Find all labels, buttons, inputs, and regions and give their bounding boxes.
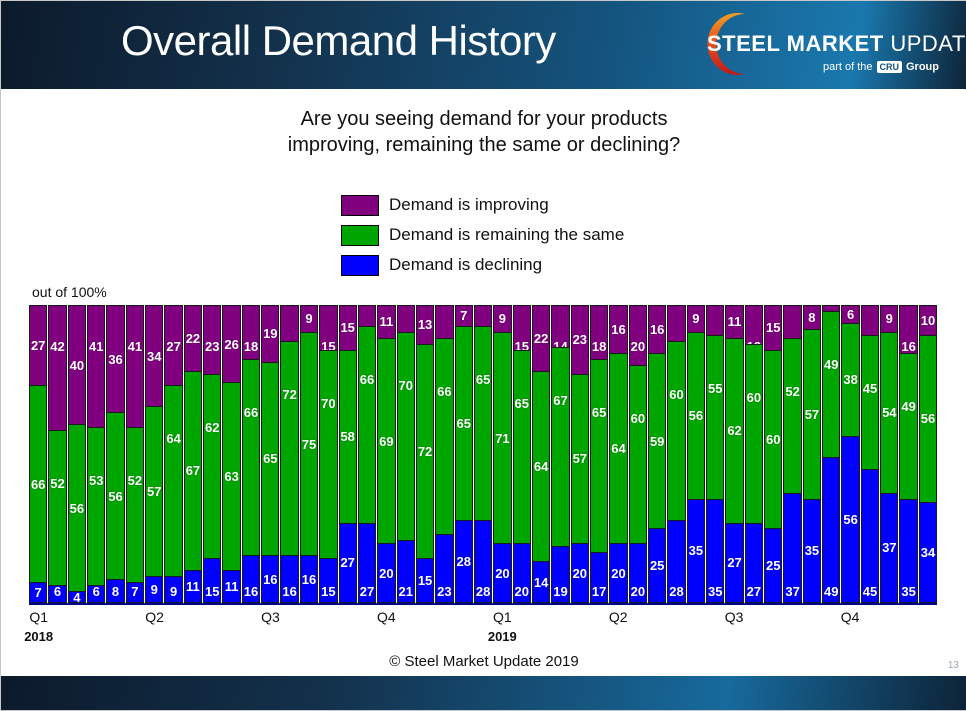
- bar-column[interactable]: 186517: [590, 305, 608, 603]
- bar-segment-same[interactable]: 69: [377, 338, 395, 544]
- bar-segment-improving[interactable]: 27: [164, 305, 182, 385]
- bar-value-same: 57: [805, 408, 819, 421]
- bar-value-improving: 41: [89, 340, 103, 353]
- bar-segment-declining[interactable]: 11: [222, 570, 240, 603]
- bar-value-same: 53: [89, 474, 103, 487]
- bar-segment-improving[interactable]: 22: [184, 305, 202, 371]
- bar-value-improving: 13: [418, 318, 432, 331]
- bar-segment-improving[interactable]: 7: [455, 305, 473, 326]
- bar-value-declining: 9: [151, 583, 158, 596]
- bar-segment-same[interactable]: 65: [590, 359, 608, 553]
- x-axis-quarter-label: Q3: [725, 609, 744, 625]
- bar-value-declining: 56: [843, 513, 857, 526]
- bar-value-improving: 41: [128, 340, 142, 353]
- bar-segment-declining[interactable]: 21: [397, 540, 415, 603]
- page-number: 13: [948, 660, 959, 671]
- bar-segment-declining[interactable]: 37: [880, 493, 898, 603]
- bar-value-declining: 15: [205, 585, 219, 598]
- bar-value-improving: 16: [901, 340, 915, 353]
- bar-value-improving: 16: [650, 323, 664, 336]
- bar-column[interactable]: 165925: [648, 305, 666, 603]
- bar-column[interactable]: 235720: [571, 305, 589, 603]
- bar-segment-improving[interactable]: 10: [861, 305, 879, 335]
- bar-column[interactable]: 146719: [551, 305, 569, 603]
- bar-segment-declining[interactable]: 9: [164, 576, 182, 603]
- bar-segment-same[interactable]: 72: [416, 344, 434, 559]
- bar-column[interactable]: 226711: [184, 305, 202, 603]
- bar-segment-declining[interactable]: 23: [435, 534, 453, 603]
- bar-value-declining: 20: [573, 567, 587, 580]
- bar-value-improving: 36: [108, 353, 122, 366]
- bar-segment-improving[interactable]: 16: [648, 305, 666, 353]
- bar-value-declining: 7: [35, 586, 42, 599]
- bar-value-same: 52: [785, 385, 799, 398]
- bar-segment-declining[interactable]: 6: [87, 585, 105, 603]
- bar-column[interactable]: 41536: [87, 305, 105, 603]
- bar-segment-improving[interactable]: 12: [280, 305, 298, 341]
- bar-column[interactable]: 196516: [261, 305, 279, 603]
- bar-value-same: 58: [340, 430, 354, 443]
- bar-segment-same[interactable]: 60: [745, 344, 763, 523]
- bar-segment-declining[interactable]: 25: [648, 528, 666, 603]
- bar-value-same: 62: [727, 424, 741, 437]
- bar-value-declining: 4: [73, 591, 80, 604]
- bar-segment-same[interactable]: 52: [48, 430, 66, 585]
- bar-segment-same[interactable]: 62: [203, 374, 221, 559]
- bar-segment-same[interactable]: 45: [861, 335, 879, 469]
- page-title: Overall Demand History: [121, 17, 556, 65]
- bar-segment-declining[interactable]: 49: [822, 457, 840, 603]
- bar-column[interactable]: 116623: [435, 305, 453, 603]
- bar-segment-improving[interactable]: 23: [571, 305, 589, 374]
- bar-segment-same[interactable]: 49: [822, 311, 840, 457]
- bar-segment-same[interactable]: 57: [145, 406, 163, 576]
- bar-value-improving: 40: [70, 359, 84, 372]
- bar-segment-declining[interactable]: 16: [261, 555, 279, 603]
- bar-segment-same[interactable]: 59: [648, 353, 666, 529]
- bar-segment-improving[interactable]: 40: [68, 305, 86, 424]
- bar-segment-same[interactable]: 52: [783, 338, 801, 493]
- steel-market-update-logo: STEEL MARKET UPDATE part of the CRU Grou…: [671, 9, 941, 83]
- bar-value-improving: 11: [379, 315, 393, 328]
- bar-segment-improving[interactable]: 13: [745, 305, 763, 344]
- bar-value-same: 67: [186, 464, 200, 477]
- bar-segment-improving[interactable]: 9: [300, 305, 318, 332]
- bar-segment-declining[interactable]: 35: [687, 499, 705, 603]
- bar-value-declining: 16: [302, 573, 316, 586]
- bar-segment-declining[interactable]: 35: [803, 499, 821, 603]
- bar-segment-improving[interactable]: 6: [841, 305, 859, 323]
- bar-segment-same[interactable]: 38: [841, 323, 859, 436]
- bar-segment-declining[interactable]: 6: [48, 585, 66, 603]
- bar-value-declining: 25: [766, 559, 780, 572]
- bar-segment-same[interactable]: 56: [106, 412, 124, 579]
- bar-value-same: 60: [766, 433, 780, 446]
- bar-column[interactable]: 24949: [822, 305, 840, 603]
- bar-segment-declining[interactable]: 20: [571, 543, 589, 603]
- bar-segment-improving[interactable]: 26: [222, 305, 240, 382]
- bar-segment-same[interactable]: 53: [87, 427, 105, 585]
- logo-word-market: MARKET: [787, 31, 891, 56]
- bar-value-declining: 35: [805, 544, 819, 557]
- bar-column[interactable]: 104545: [861, 305, 879, 603]
- bar-segment-improving[interactable]: 15: [513, 305, 531, 350]
- bar-value-declining: 35: [708, 585, 722, 598]
- bar-segment-improving[interactable]: 9: [493, 305, 511, 332]
- y-axis-note: out of 100%: [32, 284, 107, 300]
- bar-segment-same[interactable]: 58: [339, 350, 357, 523]
- bar-value-declining: 49: [824, 585, 838, 598]
- bar-value-improving: 9: [499, 312, 506, 325]
- bar-value-declining: 25: [650, 559, 664, 572]
- x-axis-quarter-label: Q1: [493, 609, 512, 625]
- bar-value-declining: 45: [863, 585, 877, 598]
- bar-segment-declining[interactable]: 20: [629, 543, 647, 603]
- bar-segment-improving[interactable]: 20: [629, 305, 647, 365]
- bar-segment-same[interactable]: 66: [435, 338, 453, 535]
- bar-segment-declining[interactable]: 20: [609, 543, 627, 603]
- bar-value-improving: 10: [921, 314, 935, 327]
- bar-segment-improving[interactable]: 16: [609, 305, 627, 353]
- bar-segment-improving[interactable]: 15: [764, 305, 782, 350]
- slide: Overall Demand History STEEL MARKET UPDA…: [0, 0, 966, 711]
- bar-segment-improving[interactable]: 36: [106, 305, 124, 412]
- bar-value-same: 60: [631, 412, 645, 425]
- bar-segment-improving[interactable]: 19: [261, 305, 279, 362]
- bar-segment-same[interactable]: 67: [551, 347, 569, 547]
- bar-segment-same[interactable]: 65: [455, 326, 473, 520]
- demand-history-chart: out of 100% 2766742526405644153636568415…: [1, 90, 966, 678]
- bar-column[interactable]: 27667: [29, 305, 47, 603]
- bar-segment-same[interactable]: 64: [609, 353, 627, 544]
- bar-value-improving: 23: [573, 333, 587, 346]
- bar-segment-same[interactable]: 54: [880, 332, 898, 493]
- bar-segment-same[interactable]: 52: [126, 427, 144, 582]
- bar-value-improving: 42: [50, 340, 64, 353]
- bar-value-same: 64: [166, 432, 180, 445]
- bar-segment-improving[interactable]: 15: [339, 305, 357, 350]
- bar-segment-same[interactable]: 60: [764, 350, 782, 529]
- bar-value-same: 66: [360, 373, 374, 386]
- bar-value-same: 71: [495, 432, 509, 445]
- bar-value-declining: 16: [282, 585, 296, 598]
- bar-value-declining: 7: [131, 585, 138, 598]
- bar-column[interactable]: 136027: [745, 305, 763, 603]
- bar-value-declining: 23: [437, 585, 451, 598]
- bar-value-declining: 27: [360, 585, 374, 598]
- bar-value-improving: 11: [728, 315, 742, 328]
- logo-wordmark: STEEL MARKET UPDATE: [707, 33, 966, 55]
- bar-segment-same[interactable]: 57: [571, 374, 589, 544]
- bar-column[interactable]: 40564: [68, 305, 86, 603]
- bar-segment-same[interactable]: 64: [164, 385, 182, 576]
- bar-column[interactable]: 164935: [899, 305, 917, 603]
- bar-column[interactable]: 27649: [164, 305, 182, 603]
- logo-tagline-suffix: Group: [906, 61, 939, 73]
- bar-value-same: 65: [592, 406, 606, 419]
- bar-column[interactable]: 206020: [629, 305, 647, 603]
- bar-segment-improving[interactable]: 11: [435, 305, 453, 338]
- bar-column[interactable]: 156025: [764, 305, 782, 603]
- bar-value-declining: 6: [93, 585, 100, 598]
- bar-column[interactable]: 226414: [532, 305, 550, 603]
- x-axis-quarter-label: Q2: [609, 609, 628, 625]
- bar-segment-declining[interactable]: 20: [513, 543, 531, 603]
- bar-value-declining: 28: [669, 585, 683, 598]
- bar-segment-improving[interactable]: 14: [551, 305, 569, 347]
- bar-segment-same[interactable]: 65: [474, 326, 492, 520]
- bar-segment-declining[interactable]: 25: [764, 528, 782, 603]
- bar-value-improving: 15: [340, 321, 354, 334]
- bar-value-same: 57: [147, 485, 161, 498]
- bar-segment-declining[interactable]: 15: [203, 558, 221, 603]
- bar-value-declining: 27: [727, 556, 741, 569]
- bar-segment-declining[interactable]: 15: [416, 558, 434, 603]
- bar-value-same: 52: [128, 474, 142, 487]
- bar-value-same: 69: [379, 435, 393, 448]
- bar-segment-declining[interactable]: 28: [667, 520, 685, 603]
- bar-segment-declining[interactable]: 27: [725, 523, 743, 603]
- bar-segment-declining[interactable]: 16: [280, 555, 298, 603]
- bar-segment-declining[interactable]: 27: [745, 523, 763, 603]
- bar-value-improving: 27: [166, 340, 180, 353]
- bar-segment-same[interactable]: 65: [261, 362, 279, 556]
- logo-word-steel: STEEL: [707, 31, 787, 56]
- bar-value-same: 65: [476, 373, 490, 386]
- bar-column[interactable]: 76627: [358, 305, 376, 603]
- bar-value-improving: 6: [847, 308, 854, 321]
- x-axis-quarter-label: Q4: [841, 609, 860, 625]
- x-axis-year-label: 2019: [488, 629, 517, 644]
- logo-word-update: UPDATE: [890, 31, 966, 56]
- bar-segment-improving[interactable]: 23: [203, 305, 221, 374]
- bar-segment-declining[interactable]: 16: [242, 555, 260, 603]
- bar-segment-declining[interactable]: 8: [106, 579, 124, 603]
- bar-column[interactable]: 137215: [416, 305, 434, 603]
- bar-segment-improving[interactable]: 41: [87, 305, 105, 427]
- bar-segment-same[interactable]: 55: [706, 335, 724, 499]
- bar-segment-same[interactable]: 67: [184, 371, 202, 571]
- bar-segment-same[interactable]: 75: [300, 332, 318, 556]
- bar-segment-declining[interactable]: 37: [783, 493, 801, 603]
- bar-value-declining: 20: [631, 585, 645, 598]
- bar-value-same: 57: [573, 452, 587, 465]
- bar-value-improving: 16: [611, 323, 625, 336]
- bar-segment-same[interactable]: 66: [358, 326, 376, 523]
- bar-column[interactable]: 97021: [397, 305, 415, 603]
- bar-segment-improving[interactable]: 15: [319, 305, 337, 350]
- bar-segment-declining[interactable]: 35: [899, 499, 917, 603]
- bar-value-same: 66: [244, 406, 258, 419]
- bar-segment-declining[interactable]: 27: [358, 523, 376, 603]
- logo-tagline: part of the CRU Group: [823, 61, 939, 73]
- bar-segment-improving[interactable]: 10: [706, 305, 724, 335]
- bar-segment-improving[interactable]: 42: [48, 305, 66, 430]
- bar-column[interactable]: 115237: [783, 305, 801, 603]
- bar-value-improving: 23: [205, 340, 219, 353]
- bar-value-same: 60: [747, 391, 761, 404]
- bar-segment-declining[interactable]: 27: [339, 523, 357, 603]
- bar-segment-same[interactable]: 66: [242, 359, 260, 556]
- bar-segment-same[interactable]: 49: [899, 353, 917, 499]
- cru-badge: CRU: [877, 61, 903, 73]
- bar-segment-declining[interactable]: 16: [300, 555, 318, 603]
- bar-value-same: 56: [921, 412, 935, 425]
- bar-segment-same[interactable]: 60: [667, 341, 685, 520]
- bar-segment-declining[interactable]: 56: [841, 436, 859, 603]
- bar-column[interactable]: 126028: [667, 305, 685, 603]
- bar-segment-declining[interactable]: 34: [919, 502, 937, 603]
- slide-footer: 13: [1, 676, 966, 710]
- bar-value-declining: 17: [592, 585, 606, 598]
- bar-segment-same[interactable]: 62: [725, 338, 743, 523]
- bar-segment-declining[interactable]: 9: [145, 576, 163, 603]
- bar-segment-improving[interactable]: 22: [532, 305, 550, 371]
- bar-segment-improving[interactable]: 34: [145, 305, 163, 406]
- slide-header: Overall Demand History STEEL MARKET UPDA…: [1, 1, 966, 89]
- bar-segment-improving[interactable]: 8: [803, 305, 821, 329]
- bar-value-declining: 28: [476, 585, 490, 598]
- bar-segment-improving[interactable]: 18: [242, 305, 260, 359]
- bar-segment-improving[interactable]: 16: [899, 305, 917, 353]
- bar-segment-declining[interactable]: 28: [455, 520, 473, 603]
- bar-value-declining: 21: [398, 585, 412, 598]
- bar-column[interactable]: 236215: [203, 305, 221, 603]
- bar-column[interactable]: 116227: [725, 305, 743, 603]
- bar-column[interactable]: 186616: [242, 305, 260, 603]
- bar-segment-same[interactable]: 70: [397, 332, 415, 541]
- bar-column[interactable]: 116920: [377, 305, 395, 603]
- bar-value-same: 66: [31, 478, 45, 491]
- bar-column[interactable]: 105634: [919, 305, 937, 603]
- bar-segment-declining[interactable]: 17: [590, 552, 608, 603]
- bar-segment-declining[interactable]: 15: [319, 558, 337, 603]
- bar-value-same: 72: [282, 388, 296, 401]
- bar-column[interactable]: 42526: [48, 305, 66, 603]
- bar-segment-declining[interactable]: 11: [184, 570, 202, 603]
- bar-segment-declining[interactable]: 14: [532, 561, 550, 603]
- bar-value-same: 72: [418, 445, 432, 458]
- bar-column[interactable]: 155827: [339, 305, 357, 603]
- bar-value-improving: 9: [305, 312, 312, 325]
- bar-segment-improving[interactable]: 41: [126, 305, 144, 427]
- bar-column[interactable]: 85735: [803, 305, 821, 603]
- bar-column[interactable]: 76528: [455, 305, 473, 603]
- slide-body: Are you seeing demand for your products …: [1, 90, 966, 678]
- bar-value-declining: 11: [225, 580, 239, 593]
- bar-segment-same[interactable]: 56: [919, 335, 937, 502]
- bar-value-same: 45: [863, 382, 877, 395]
- bar-segment-same[interactable]: 56: [687, 332, 705, 499]
- bar-column[interactable]: 76528: [474, 305, 492, 603]
- bar-segment-declining[interactable]: 28: [474, 520, 492, 603]
- bar-segment-improving[interactable]: 18: [590, 305, 608, 359]
- bar-value-declining: 20: [515, 585, 529, 598]
- bar-segment-improving[interactable]: 11: [783, 305, 801, 338]
- bar-segment-improving[interactable]: 11: [377, 305, 395, 338]
- bar-value-declining: 37: [785, 585, 799, 598]
- bar-segment-declining[interactable]: 19: [551, 546, 569, 603]
- bar-column[interactable]: 95635: [687, 305, 705, 603]
- bar-value-same: 59: [650, 435, 664, 448]
- bar-column[interactable]: 166420: [609, 305, 627, 603]
- bar-segment-improving[interactable]: 9: [687, 305, 705, 332]
- bar-segment-declining[interactable]: 7: [29, 582, 47, 603]
- bar-segment-same[interactable]: 63: [222, 382, 240, 570]
- bar-value-same: 64: [534, 460, 548, 473]
- bar-column[interactable]: 97120: [493, 305, 511, 603]
- bar-value-declining: 35: [901, 585, 915, 598]
- bar-column[interactable]: 127216: [280, 305, 298, 603]
- bar-segment-same[interactable]: 64: [532, 371, 550, 562]
- bar-column[interactable]: 266311: [222, 305, 240, 603]
- bar-segment-improving[interactable]: 9: [880, 305, 898, 332]
- bar-value-same: 56: [108, 490, 122, 503]
- bar-column[interactable]: 105535: [706, 305, 724, 603]
- bar-value-declining: 20: [379, 567, 393, 580]
- bar-segment-declining[interactable]: 7: [126, 582, 144, 603]
- bar-segment-improving[interactable]: 13: [416, 305, 434, 344]
- bar-value-declining: 19: [553, 585, 567, 598]
- bar-segment-same[interactable]: 70: [319, 350, 337, 559]
- bar-segment-declining[interactable]: 20: [493, 543, 511, 603]
- bar-column[interactable]: 36568: [106, 305, 124, 603]
- bar-column[interactable]: 157015: [319, 305, 337, 603]
- bar-segment-improving[interactable]: 9: [397, 305, 415, 332]
- bar-segment-declining[interactable]: 45: [861, 469, 879, 603]
- bar-value-improving: 22: [186, 332, 200, 345]
- bar-segment-improving[interactable]: 10: [919, 305, 937, 335]
- bar-column[interactable]: 156520: [513, 305, 531, 603]
- bar-segment-improving[interactable]: 7: [474, 305, 492, 326]
- bar-segment-improving[interactable]: 11: [725, 305, 743, 338]
- copyright-text: © Steel Market Update 2019: [1, 653, 966, 670]
- bar-segment-same[interactable]: 65: [513, 350, 531, 544]
- bar-value-declining: 9: [170, 585, 177, 598]
- bar-value-improving: 9: [692, 312, 699, 325]
- bar-column[interactable]: 41527: [126, 305, 144, 603]
- bar-segment-declining[interactable]: 4: [68, 591, 86, 603]
- bar-value-improving: 20: [631, 340, 645, 353]
- bar-value-same: 63: [224, 470, 238, 483]
- bar-segment-declining[interactable]: 35: [706, 499, 724, 603]
- bar-segment-improving[interactable]: 27: [29, 305, 47, 385]
- bar-value-declining: 37: [882, 541, 896, 554]
- bar-segment-same[interactable]: 60: [629, 365, 647, 544]
- bar-segment-same[interactable]: 56: [68, 424, 86, 591]
- bar-column[interactable]: 34579: [145, 305, 163, 603]
- bar-value-same: 70: [321, 397, 335, 410]
- bar-value-same: 65: [457, 417, 471, 430]
- x-axis-quarter-label: Q4: [377, 609, 396, 625]
- bar-value-declining: 6: [54, 585, 61, 598]
- bar-column[interactable]: 95437: [880, 305, 898, 603]
- bar-segment-declining[interactable]: 20: [377, 543, 395, 603]
- bar-value-improving: 7: [460, 309, 467, 322]
- bar-value-declining: 27: [340, 556, 354, 569]
- bar-value-same: 60: [669, 388, 683, 401]
- bar-segment-improving[interactable]: 7: [358, 305, 376, 326]
- bar-column[interactable]: 63856: [841, 305, 859, 603]
- bar-segment-same[interactable]: 57: [803, 329, 821, 499]
- bar-segment-same[interactable]: 72: [280, 341, 298, 556]
- bar-value-declining: 16: [263, 573, 277, 586]
- bar-segment-improving[interactable]: 12: [667, 305, 685, 341]
- bar-value-declining: 34: [921, 546, 935, 559]
- bar-segment-same[interactable]: 66: [29, 385, 47, 582]
- bar-column[interactable]: 97516: [300, 305, 318, 603]
- bar-segment-same[interactable]: 71: [493, 332, 511, 544]
